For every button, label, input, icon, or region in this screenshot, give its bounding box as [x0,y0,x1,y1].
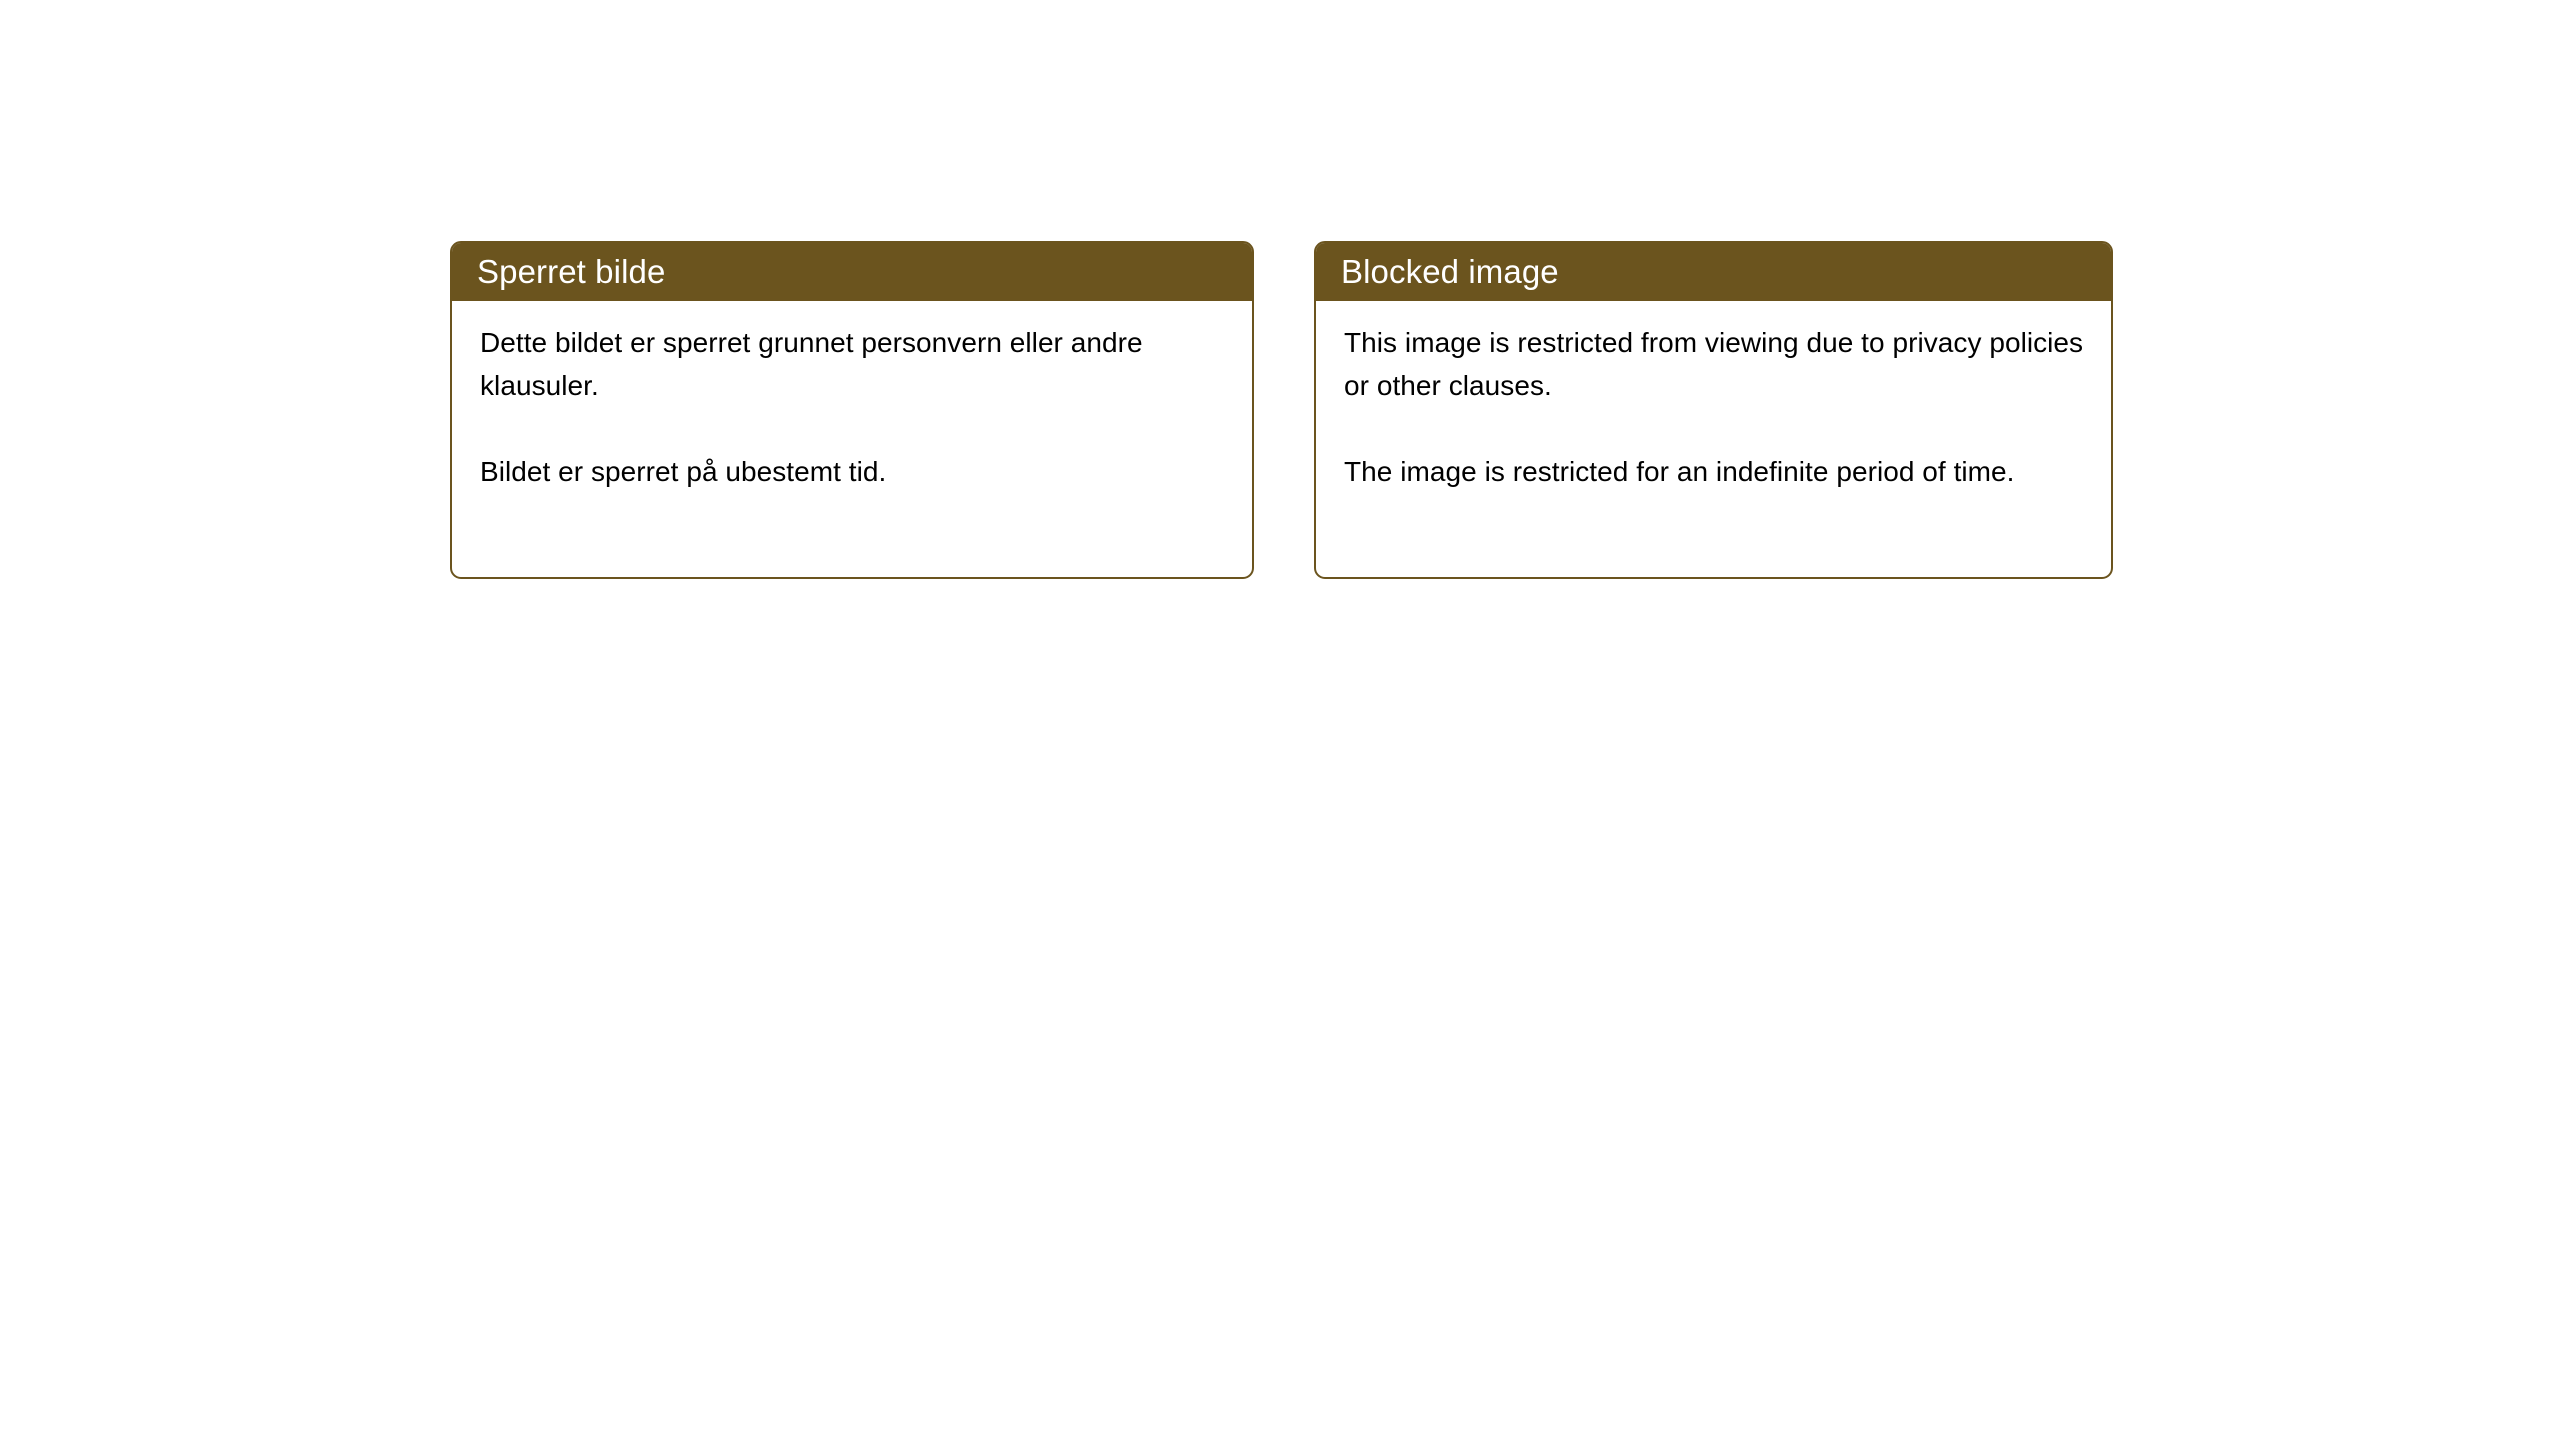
card-body-no: Dette bildet er sperret grunnet personve… [452,301,1252,493]
page-canvas: Sperret bilde Dette bildet er sperret gr… [0,0,2560,1440]
card-body-en: This image is restricted from viewing du… [1316,301,2111,493]
card-paragraph-duration-en: The image is restricted for an indefinit… [1344,450,2089,493]
card-paragraph-reason-en: This image is restricted from viewing du… [1344,321,2089,407]
card-paragraph-reason-no: Dette bildet er sperret grunnet personve… [480,321,1230,407]
card-title-en: Blocked image [1341,255,1559,288]
blocked-image-notice-card-en: Blocked image This image is restricted f… [1314,241,2113,579]
card-header-no: Sperret bilde [450,241,1254,301]
card-header-en: Blocked image [1314,241,2113,301]
blocked-image-notice-card-no: Sperret bilde Dette bildet er sperret gr… [450,241,1254,579]
card-paragraph-duration-no: Bildet er sperret på ubestemt tid. [480,450,1230,493]
card-title-no: Sperret bilde [477,255,665,288]
